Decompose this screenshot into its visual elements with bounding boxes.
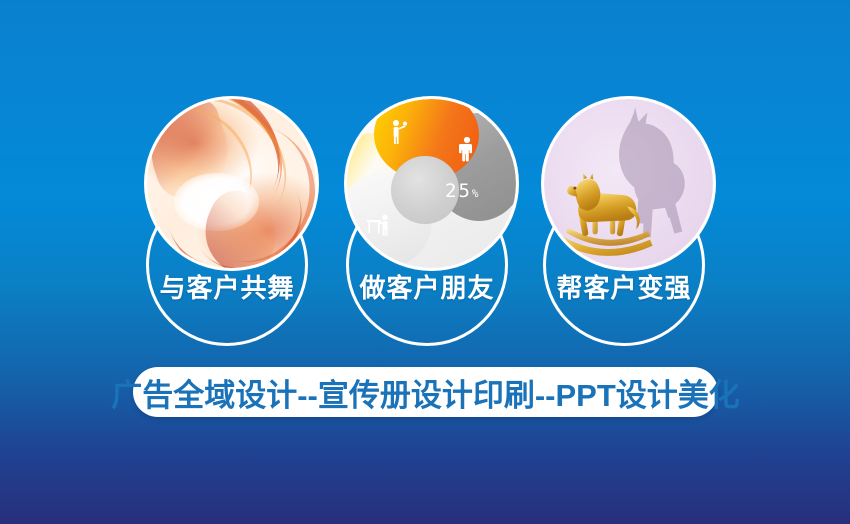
feature-unit-3[interactable]: 帮客户变强 [535,96,735,346]
unit-caption-3: 帮客户变强 [535,268,713,305]
feature-unit-2[interactable]: 25% [338,96,538,346]
person-presenting-icon [388,119,408,145]
person-standing-icon [459,136,475,162]
photo-circle-2: 25% [344,96,519,271]
unit-caption-1: 与客户共舞 [138,268,316,305]
photo-circle-1 [144,96,319,271]
infographic-blobs-icon: 25% [347,99,516,268]
tagline-banner[interactable]: 广告全域设计--宣传册设计印刷--PPT设计美化 [133,367,718,417]
stat-value: 25 [445,180,472,202]
photo-circle-3 [541,96,716,271]
feature-unit-1[interactable]: 与客户共舞 [138,96,338,346]
tagline-text: 广告全域设计--宣传册设计印刷--PPT设计美化 [111,370,740,415]
stat-unit: % [472,187,481,200]
poster-canvas: 与客户共舞 [0,0,850,524]
person-at-desk-icon [367,214,393,236]
stat-percentage-label: 25% [445,180,481,202]
unit-caption-2: 做客户朋友 [338,268,516,305]
rocking-horse-body-icon [554,173,659,261]
golden-rocking-horse-icon [544,99,713,268]
orange-smoke-swirl-icon [147,99,316,268]
